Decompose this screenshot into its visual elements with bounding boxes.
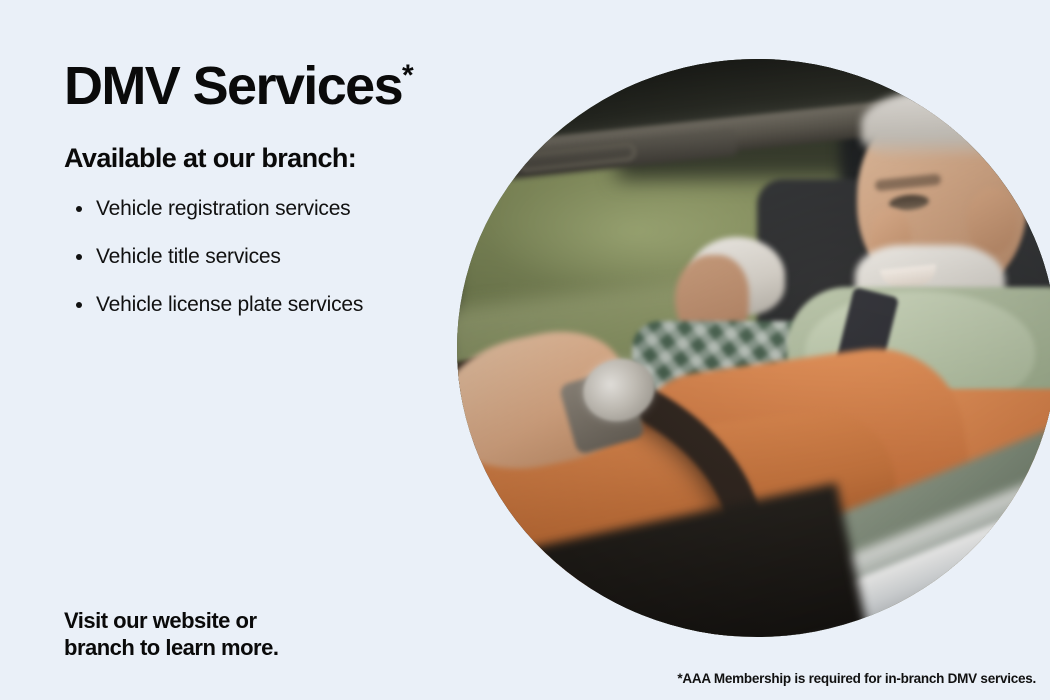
photo-circle-mask <box>457 59 1050 637</box>
services-list: Vehicle registration services Vehicle ti… <box>64 196 464 319</box>
headline-text: DMV Services <box>64 56 402 116</box>
list-item: Vehicle title services <box>64 244 464 270</box>
list-item: Vehicle license plate services <box>64 292 464 318</box>
dmv-services-banner: DMV Services* Available at our branch: V… <box>0 0 1050 700</box>
disclaimer-footnote: *AAA Membership is required for in-branc… <box>677 671 1036 686</box>
headline-asterisk: * <box>402 59 414 92</box>
page-title: DMV Services* <box>64 58 464 115</box>
cta-line-2: branch to learn more. <box>64 635 278 662</box>
call-to-action: Visit our website or branch to learn mor… <box>64 608 278 662</box>
photo-image <box>457 59 1050 637</box>
driver-hair <box>861 89 1029 159</box>
cta-line-1: Visit our website or <box>64 608 278 635</box>
driver-ear <box>967 187 1017 255</box>
subheading: Available at our branch: <box>64 143 464 174</box>
list-item: Vehicle registration services <box>64 196 464 222</box>
hero-photo <box>457 59 1050 637</box>
copy-column: DMV Services* Available at our branch: V… <box>64 58 464 340</box>
